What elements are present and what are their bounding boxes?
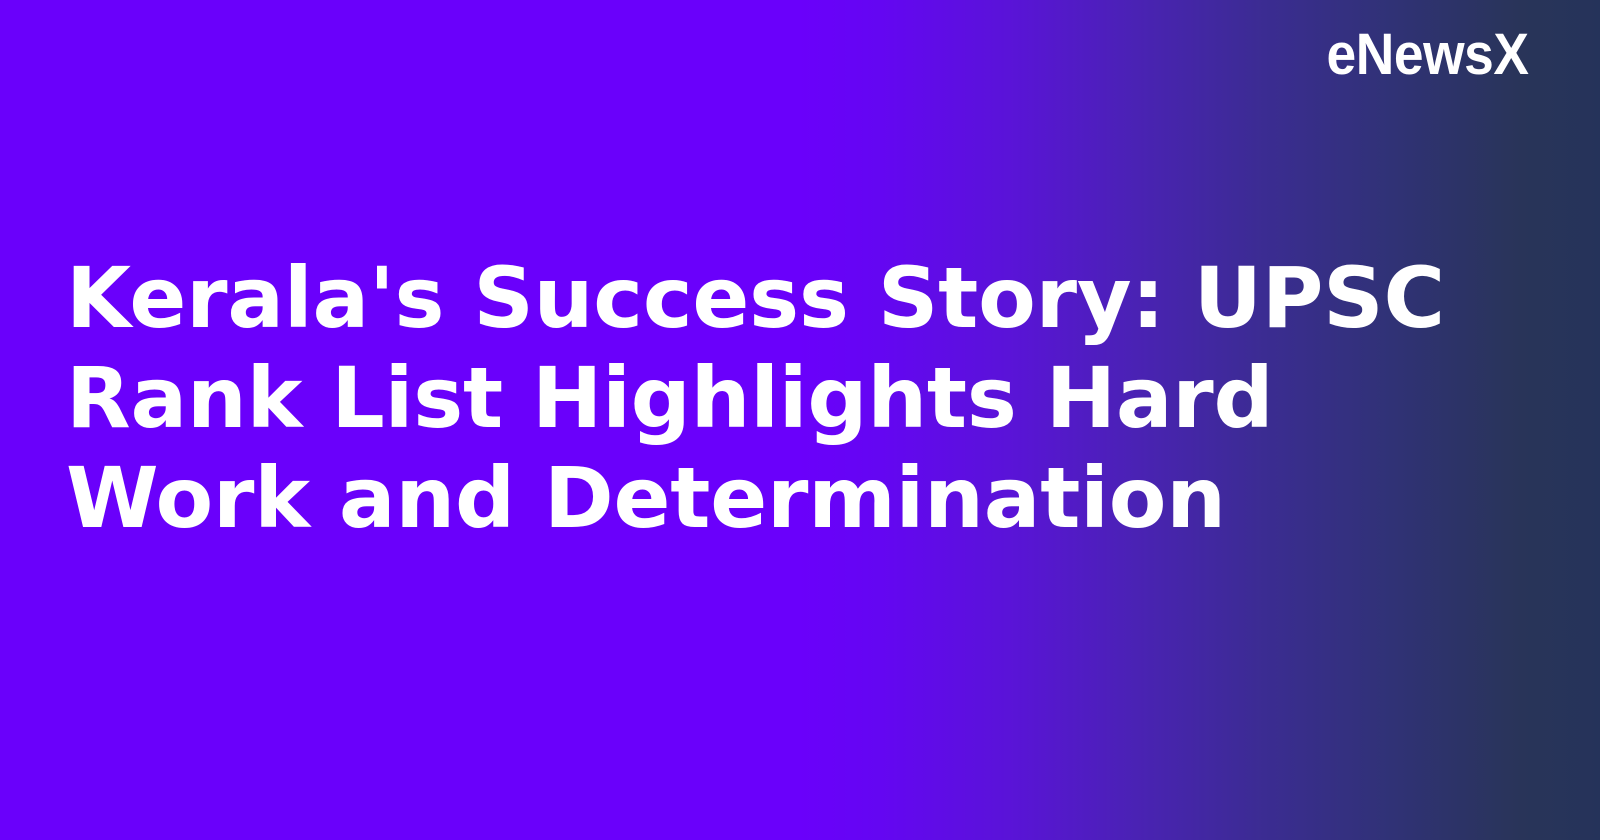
brand-logo[interactable]: eNewsX (1309, 0, 1528, 110)
headline-block: Kerala's Success Story: UPSC Rank List H… (66, 248, 1486, 548)
news-article-card: eNewsX Kerala's Success Story: UPSC Rank… (0, 0, 1600, 840)
brand-wordmark: eNewsX (1326, 26, 1528, 84)
page-title: Kerala's Success Story: UPSC Rank List H… (66, 248, 1486, 548)
